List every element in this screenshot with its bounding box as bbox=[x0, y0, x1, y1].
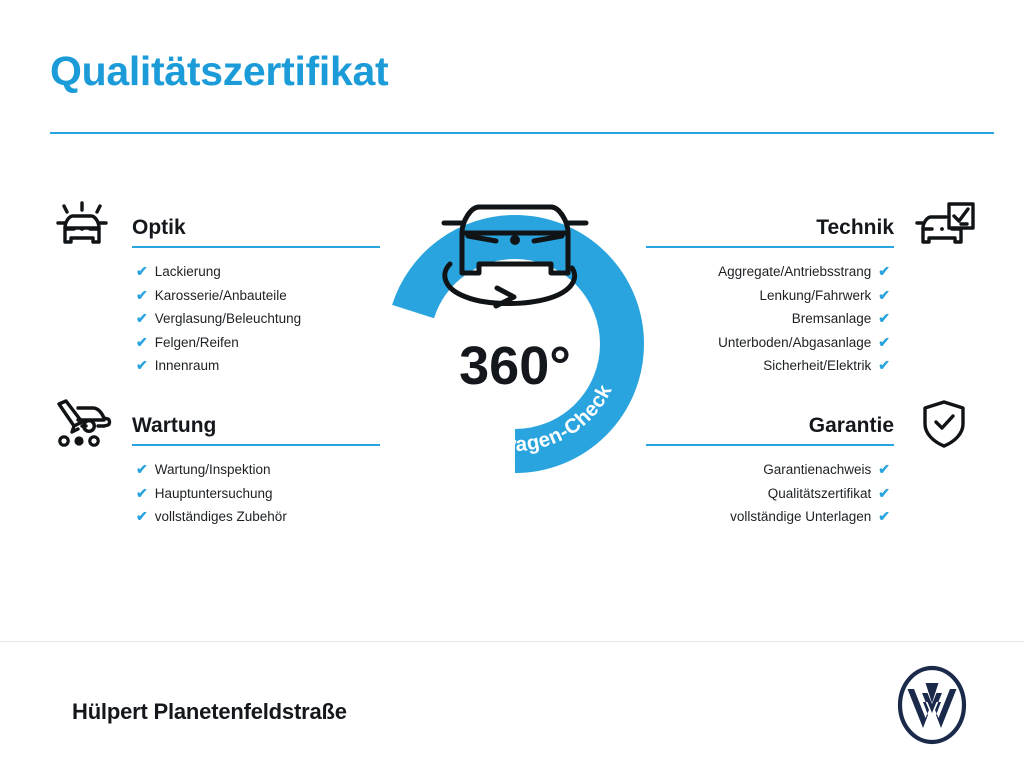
list-item: Unterboden/Abgasanlage✔ bbox=[648, 331, 978, 355]
section-optik-title: Optik bbox=[132, 216, 186, 240]
list-item: Qualitätszertifikat✔ bbox=[648, 482, 978, 506]
check-icon: ✔ bbox=[136, 508, 148, 524]
car-checkbox-icon bbox=[910, 198, 978, 254]
list-item-label: Lenkung/Fahrwerk bbox=[759, 288, 871, 303]
list-item: Sicherheit/Elektrik✔ bbox=[648, 354, 978, 378]
volkswagen-logo bbox=[892, 665, 972, 745]
list-item: Bremsanlage✔ bbox=[648, 307, 978, 331]
list-item-label: Innenraum bbox=[155, 358, 220, 373]
section-wartung-header: Wartung bbox=[48, 400, 378, 446]
list-item-label: Lackierung bbox=[155, 264, 221, 279]
page-title: Qualitätszertifikat bbox=[50, 48, 388, 95]
section-wartung: Wartung ✔Wartung/Inspektion ✔Hauptunters… bbox=[48, 400, 378, 529]
check-icon: ✔ bbox=[136, 310, 148, 326]
check-icon: ✔ bbox=[136, 334, 148, 350]
footer-divider bbox=[0, 641, 1024, 642]
check-icon: ✔ bbox=[878, 508, 890, 524]
list-item: ✔Verglasung/Beleuchtung bbox=[48, 307, 378, 331]
section-optik-header: Optik bbox=[48, 202, 378, 248]
list-item-label: Qualitätszertifikat bbox=[768, 486, 872, 501]
section-garantie-title: Garantie bbox=[809, 414, 894, 438]
section-technik-divider bbox=[646, 246, 894, 248]
car-shine-icon bbox=[48, 198, 116, 254]
list-item-label: Garantienachweis bbox=[763, 462, 871, 477]
section-optik: Optik ✔Lackierung ✔Karosserie/Anbauteile… bbox=[48, 202, 378, 378]
list-item: ✔Hauptuntersuchung bbox=[48, 482, 378, 506]
list-item: vollständige Unterlagen✔ bbox=[648, 505, 978, 529]
check-icon: ✔ bbox=[136, 485, 148, 501]
list-item: ✔Innenraum bbox=[48, 354, 378, 378]
list-item-label: vollständiges Zubehör bbox=[155, 509, 287, 524]
list-item: ✔Wartung/Inspektion bbox=[48, 458, 378, 482]
section-technik-title: Technik bbox=[816, 216, 894, 240]
check-icon: ✔ bbox=[878, 310, 890, 326]
list-item-label: vollständige Unterlagen bbox=[730, 509, 871, 524]
section-technik: Technik Aggregate/Antriebsstrang✔ Lenkun… bbox=[648, 202, 978, 378]
list-item-label: Karosserie/Anbauteile bbox=[155, 288, 287, 303]
section-technik-list: Aggregate/Antriebsstrang✔ Lenkung/Fahrwe… bbox=[648, 260, 978, 378]
list-item-label: Wartung/Inspektion bbox=[155, 462, 271, 477]
badge-center-label: 360° bbox=[459, 336, 571, 396]
list-item: ✔Karosserie/Anbauteile bbox=[48, 284, 378, 308]
check-icon: ✔ bbox=[878, 357, 890, 373]
shield-check-icon bbox=[910, 396, 978, 452]
list-item: ✔Lackierung bbox=[48, 260, 378, 284]
check-icon: ✔ bbox=[136, 357, 148, 373]
list-item: ✔vollständiges Zubehör bbox=[48, 505, 378, 529]
section-optik-list: ✔Lackierung ✔Karosserie/Anbauteile ✔Verg… bbox=[48, 260, 378, 378]
check-icon: ✔ bbox=[878, 334, 890, 350]
list-item-label: Sicherheit/Elektrik bbox=[763, 358, 871, 373]
section-garantie: Garantie Garantienachweis✔ Qualitätszert… bbox=[648, 400, 978, 529]
check-icon: ✔ bbox=[136, 263, 148, 279]
section-garantie-list: Garantienachweis✔ Qualitätszertifikat✔ v… bbox=[648, 458, 978, 529]
section-garantie-header: Garantie bbox=[648, 400, 978, 446]
car-service-pencil-icon bbox=[48, 396, 116, 452]
list-item-label: Aggregate/Antriebsstrang bbox=[718, 264, 871, 279]
gebrauchtwagen-check-badge: 360° Gebrauchtwagen-Check bbox=[374, 188, 656, 488]
section-garantie-divider bbox=[646, 444, 894, 446]
check-icon: ✔ bbox=[878, 485, 890, 501]
dealer-name: Hülpert Planetenfeldstraße bbox=[72, 699, 347, 725]
section-technik-header: Technik bbox=[648, 202, 978, 248]
list-item: Aggregate/Antriebsstrang✔ bbox=[648, 260, 978, 284]
list-item-label: Felgen/Reifen bbox=[155, 335, 239, 350]
section-wartung-title: Wartung bbox=[132, 414, 216, 438]
section-optik-divider bbox=[132, 246, 380, 248]
title-divider bbox=[50, 132, 994, 134]
section-wartung-list: ✔Wartung/Inspektion ✔Hauptuntersuchung ✔… bbox=[48, 458, 378, 529]
list-item: Lenkung/Fahrwerk✔ bbox=[648, 284, 978, 308]
list-item-label: Bremsanlage bbox=[792, 311, 872, 326]
page-footer: Hülpert Planetenfeldstraße bbox=[0, 641, 1024, 768]
check-icon: ✔ bbox=[136, 461, 148, 477]
check-icon: ✔ bbox=[878, 287, 890, 303]
check-icon: ✔ bbox=[878, 263, 890, 279]
list-item-label: Verglasung/Beleuchtung bbox=[155, 311, 301, 326]
section-wartung-divider bbox=[132, 444, 380, 446]
list-item-label: Unterboden/Abgasanlage bbox=[718, 335, 871, 350]
check-icon: ✔ bbox=[878, 461, 890, 477]
list-item: ✔Felgen/Reifen bbox=[48, 331, 378, 355]
check-icon: ✔ bbox=[136, 287, 148, 303]
list-item-label: Hauptuntersuchung bbox=[155, 486, 273, 501]
list-item: Garantienachweis✔ bbox=[648, 458, 978, 482]
page-header: Qualitätszertifikat bbox=[0, 0, 1024, 140]
